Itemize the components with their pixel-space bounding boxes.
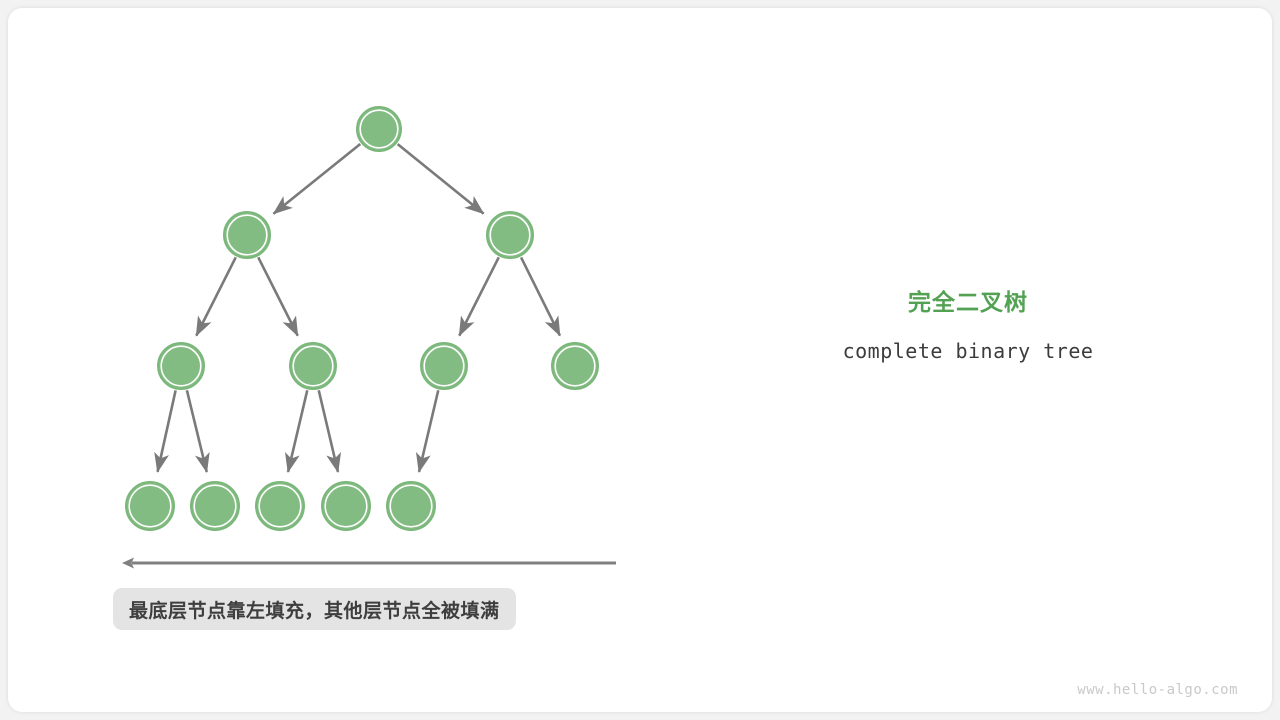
note-pill: 最底层节点靠左填充，其他层节点全被填满 [113, 588, 516, 630]
note-pill-text: 最底层节点靠左填充，其他层节点全被填满 [129, 596, 500, 623]
tree-node [191, 482, 239, 530]
tree-node [552, 343, 598, 389]
tree-node [256, 482, 304, 530]
tree-node-body [129, 485, 171, 527]
tree-node-body [390, 485, 432, 527]
tree-edge-layer [158, 144, 560, 472]
tree-edge [419, 390, 438, 472]
tree-node [290, 343, 336, 389]
tree-edge [288, 390, 307, 472]
watermark: www.hello-algo.com [1077, 682, 1238, 698]
legend-title-en: complete binary tree [760, 338, 1176, 364]
tree-node-body [555, 346, 595, 386]
tree-node-body [259, 485, 301, 527]
tree-node-body [227, 215, 267, 255]
tree-edge [459, 257, 498, 335]
tree-edge [158, 390, 176, 471]
tree-node-body [194, 485, 236, 527]
legend-block: 完全二叉树 complete binary tree [760, 288, 1176, 364]
tree-node-body [161, 346, 201, 386]
tree-node [387, 482, 435, 530]
tree-node-body [293, 346, 333, 386]
tree-node-body [424, 346, 464, 386]
tree-node-body [490, 215, 530, 255]
tree-node [158, 343, 204, 389]
tree-node-layer [126, 107, 598, 530]
tree-edge [398, 144, 484, 214]
tree-node [487, 212, 533, 258]
tree-edge [274, 144, 361, 214]
tree-edge [258, 257, 297, 335]
tree-edge [187, 390, 207, 472]
tree-node [126, 482, 174, 530]
tree-node-body [360, 110, 398, 148]
fill-direction-arrow [122, 558, 616, 569]
tree-node [322, 482, 370, 530]
tree-node [421, 343, 467, 389]
tree-node [224, 212, 270, 258]
legend-title-cn: 完全二叉树 [760, 288, 1176, 318]
tree-edge [196, 257, 235, 335]
diagram-canvas: 完全二叉树 complete binary tree 最底层节点靠左填充，其他层… [0, 0, 1280, 720]
tree-edge [521, 257, 560, 335]
tree-edge [319, 390, 338, 472]
tree-node-body [325, 485, 367, 527]
tree-node [357, 107, 401, 151]
